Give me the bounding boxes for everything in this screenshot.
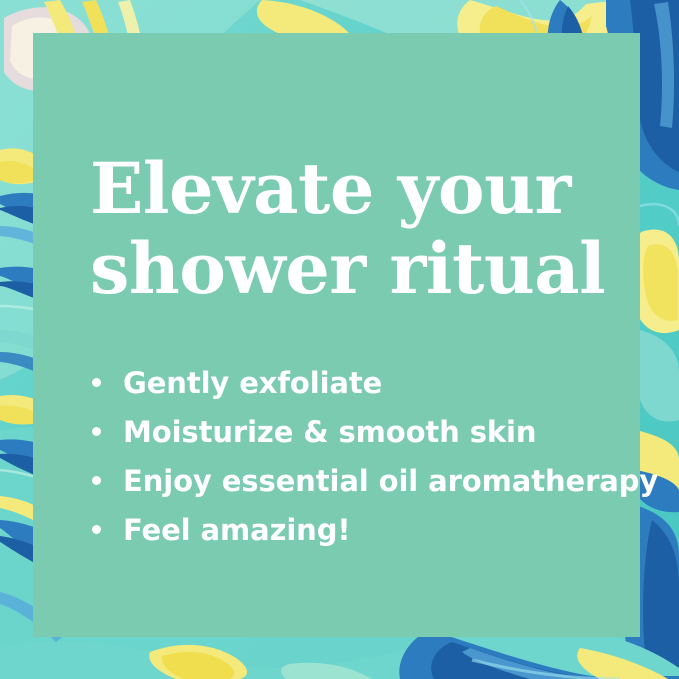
poster-canvas: Elevate your shower ritual Gently exfoli… xyxy=(0,0,679,679)
bullet-dot-icon xyxy=(92,378,101,387)
list-item: Feel amazing! xyxy=(90,510,635,559)
bullet-dot-icon xyxy=(92,427,101,436)
bullet-dot-icon xyxy=(92,476,101,485)
headline-line-1: Elevate your xyxy=(90,149,630,229)
benefit-label: Moisturize & smooth skin xyxy=(123,415,536,449)
list-item: Enjoy essential oil aromatherapy xyxy=(90,461,635,510)
benefit-label: Gently exfoliate xyxy=(123,366,382,400)
page-title: Elevate your shower ritual xyxy=(90,149,630,309)
list-item: Gently exfoliate xyxy=(90,363,635,412)
headline-line-2: shower ritual xyxy=(90,229,630,309)
benefits-list: Gently exfoliate Moisturize & smooth ski… xyxy=(90,363,635,559)
bullet-dot-icon xyxy=(92,525,101,534)
content-panel: Elevate your shower ritual Gently exfoli… xyxy=(33,33,640,637)
benefit-label: Enjoy essential oil aromatherapy xyxy=(123,464,658,498)
list-item: Moisturize & smooth skin xyxy=(90,412,635,461)
benefit-label: Feel amazing! xyxy=(123,513,351,547)
